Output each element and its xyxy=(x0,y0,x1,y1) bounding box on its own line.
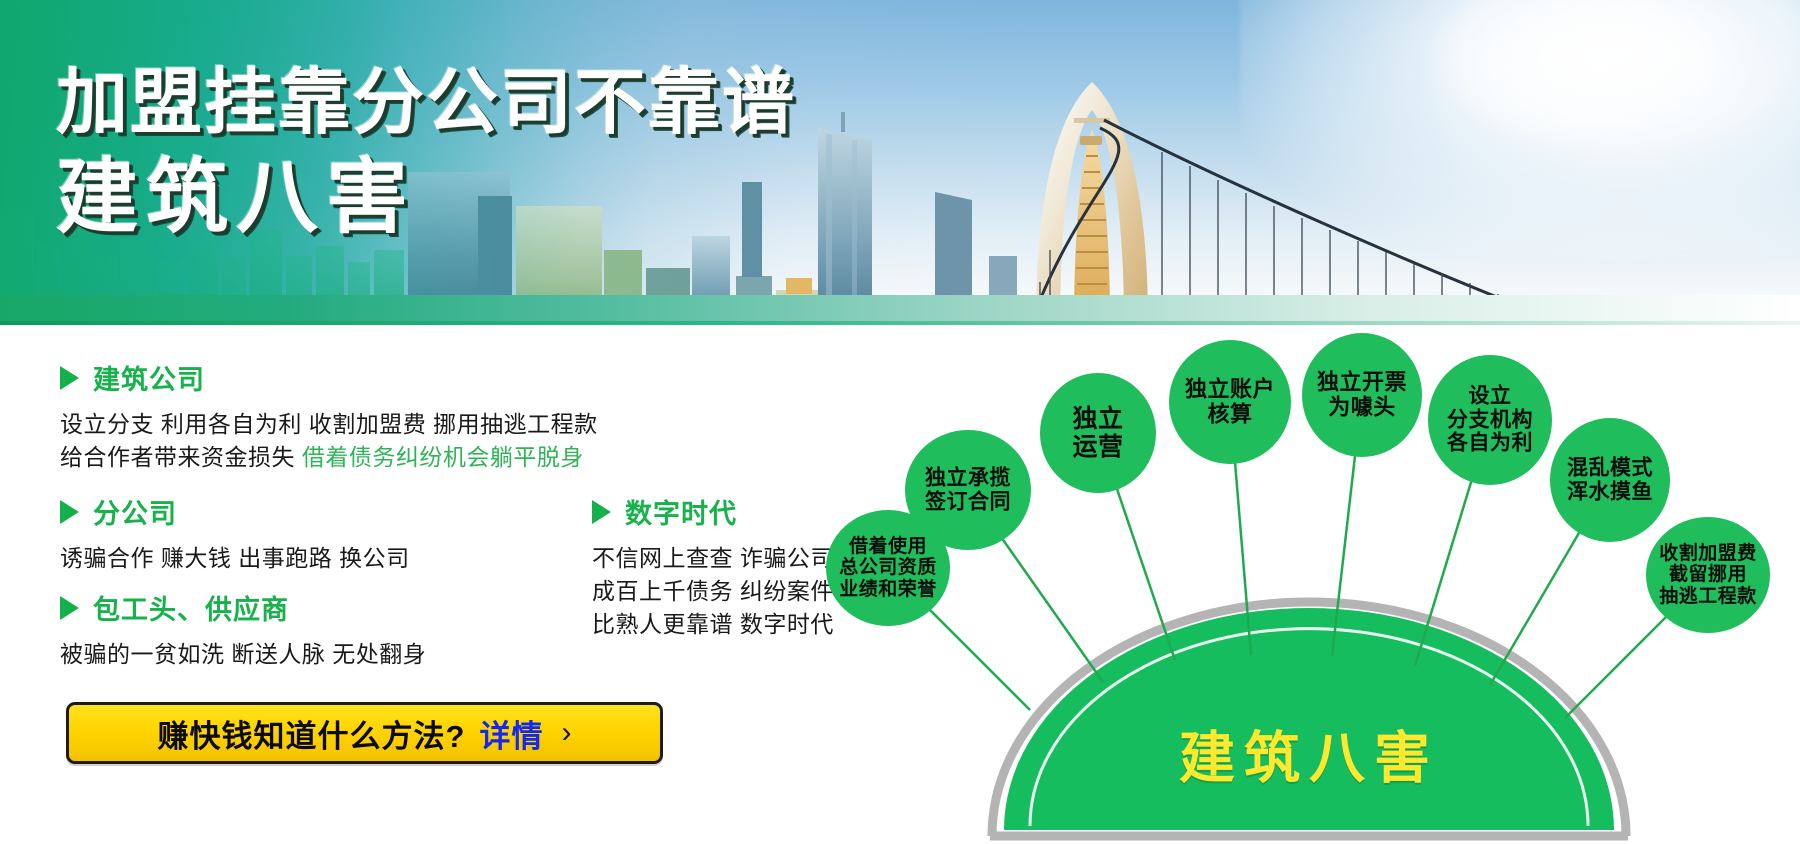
triangle-bullet-icon xyxy=(60,596,79,620)
line-text: 设立分支 利用各自为利 收割加盟费 挪用抽逃工程款 xyxy=(60,411,598,437)
triangle-bullet-icon xyxy=(60,366,79,390)
bubble-branch-self-interest[interactable] xyxy=(1428,355,1552,485)
section-body: 诱骗合作 赚大钱 出事跑路 换公司 xyxy=(60,542,410,575)
cta-detail-link[interactable]: 详情 xyxy=(479,711,543,756)
section-building-company: 建筑公司 设立分支 利用各自为利 收割加盟费 挪用抽逃工程款 给合作者带来资金损… xyxy=(60,358,598,474)
bubble-independent-account[interactable] xyxy=(1169,340,1291,464)
section-header: 包工头、供应商 xyxy=(60,588,426,627)
eight-harms-diagram: 借着使用 总公司资质 业绩和荣誉独立承揽 签订合同独立 运营独立账户 核算独立开… xyxy=(790,330,1800,844)
bubble-chaotic-mode[interactable] xyxy=(1550,418,1670,542)
hero-banner: 加盟挂靠分公司不靠谱 建筑八害 xyxy=(0,0,1800,325)
section-branch-company: 分公司 诱骗合作 赚大钱 出事跑路 换公司 xyxy=(60,492,410,575)
section-title: 数字时代 xyxy=(625,492,737,531)
banner-bottom-rule xyxy=(0,321,1800,325)
section-line: 诱骗合作 赚大钱 出事跑路 换公司 xyxy=(60,542,410,575)
bubble-harvest-franchise-fee[interactable] xyxy=(1646,517,1770,633)
line-highlight: 借着债务纠纷机会躺平脱身 xyxy=(302,444,584,470)
diagram-canvas xyxy=(790,330,1800,844)
section-contractor-supplier: 包工头、供应商 被骗的一贫如洗 断送人脉 无处翻身 xyxy=(60,588,426,671)
dome-shape xyxy=(1004,608,1614,830)
section-header: 分公司 xyxy=(60,492,410,531)
section-line: 设立分支 利用各自为利 收割加盟费 挪用抽逃工程款 xyxy=(60,408,598,441)
section-line: 被骗的一贫如洗 断送人脉 无处翻身 xyxy=(60,638,426,671)
headline-line-1: 加盟挂靠分公司不靠谱 xyxy=(56,62,796,144)
section-title: 建筑公司 xyxy=(93,358,205,397)
section-title: 包工头、供应商 xyxy=(93,588,289,627)
line-text: 给合作者带来资金损失 xyxy=(60,444,302,470)
headline-line-2: 建筑八害 xyxy=(56,150,796,246)
section-body: 被骗的一贫如洗 断送人脉 无处翻身 xyxy=(60,638,426,671)
triangle-bullet-icon xyxy=(60,500,79,524)
section-body: 设立分支 利用各自为利 收割加盟费 挪用抽逃工程款 给合作者带来资金损失 借着债… xyxy=(60,408,598,474)
left-content-column: 建筑公司 设立分支 利用各自为利 收割加盟费 挪用抽逃工程款 给合作者带来资金损… xyxy=(0,330,820,844)
triangle-bullet-icon xyxy=(592,500,611,524)
section-line: 给合作者带来资金损失 借着债务纠纷机会躺平脱身 xyxy=(60,441,598,474)
cta-main-label: 赚快钱知道什么方法? xyxy=(158,711,466,756)
bubble-independent-contracting[interactable] xyxy=(905,430,1031,550)
bubble-independent-operation[interactable] xyxy=(1040,373,1156,493)
section-title: 分公司 xyxy=(93,492,177,531)
poster-root: 加盟挂靠分公司不靠谱 建筑八害 建筑公司 设立分支 利用各自为利 收割加盟费 挪… xyxy=(0,0,1800,844)
section-header: 建筑公司 xyxy=(60,358,598,397)
chevron-right-icon: › xyxy=(561,718,571,748)
bubble-independent-invoice[interactable] xyxy=(1302,333,1422,457)
page-title: 加盟挂靠分公司不靠谱 建筑八害 xyxy=(56,62,796,246)
cta-button[interactable]: 赚快钱知道什么方法? 详情 › xyxy=(66,702,663,764)
